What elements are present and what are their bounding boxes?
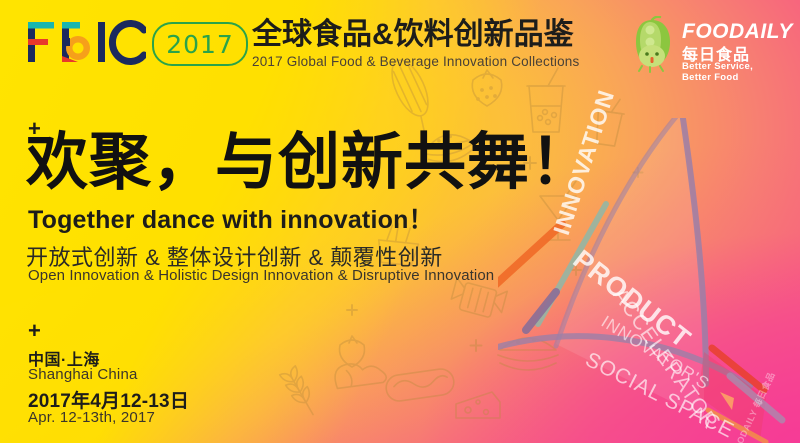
bubble-tea-doodle <box>592 96 626 146</box>
headline-cn: 欢聚，与创新共舞！ <box>26 132 593 194</box>
megaphone-word-accelerator: ACCELERATOR <box>607 284 722 434</box>
strawberry-doodle <box>340 336 365 367</box>
megaphone-stripes <box>498 204 606 330</box>
header-title-cn: 全球食品&饮料创新品鉴 <box>252 20 574 50</box>
year-badge: 2017 <box>152 22 248 66</box>
foodaily-watermark: FOODAILY 每日食品 <box>727 370 778 443</box>
fbic-logo-mark <box>26 18 146 66</box>
subtitle-en: Open Innovation & Holistic Design Innova… <box>28 267 494 284</box>
hotdog-doodle <box>385 367 456 402</box>
foodaily-tagline: Better Service, Better Food <box>682 61 782 83</box>
bread-doodle <box>333 358 387 390</box>
location-en: Shanghai China <box>28 366 138 383</box>
megaphone-word-social-space: SOCIAL SPACE <box>581 348 738 443</box>
plus-marker-bottom: + <box>28 320 41 342</box>
fbic-logo <box>26 18 146 71</box>
headline-en: Together dance with innovation！ <box>28 200 434 236</box>
megaphone-word-innovators: INNOVATOR'S <box>597 312 713 395</box>
foodaily-logo: FOODAILY 每日食品 Better Service, Better Foo… <box>630 14 782 76</box>
doodle-group <box>280 55 643 419</box>
poster-canvas: INNOVATION PRODUCT ACCELERATOR INNOVATOR… <box>0 0 800 443</box>
megaphone-handle <box>698 348 782 442</box>
wheat-doodle <box>280 366 321 419</box>
megaphone-edge-right <box>682 118 706 384</box>
pea-pod-mascot-icon <box>630 16 678 74</box>
candy-doodle <box>449 278 507 320</box>
date-en: Apr. 12-13th, 2017 <box>28 409 155 426</box>
megaphone-band <box>498 336 750 386</box>
cheese-doodle <box>456 392 500 418</box>
megaphone-word-product: PRODUCT <box>567 244 697 355</box>
burger-doodle <box>498 338 558 370</box>
year-badge-label: 2017 <box>166 30 234 59</box>
header-bar: 2017 全球食品&饮料创新品鉴 2017 Global Food & Beve… <box>0 0 800 86</box>
header-title-en: 2017 Global Food & Beverage Innovation C… <box>252 54 579 69</box>
